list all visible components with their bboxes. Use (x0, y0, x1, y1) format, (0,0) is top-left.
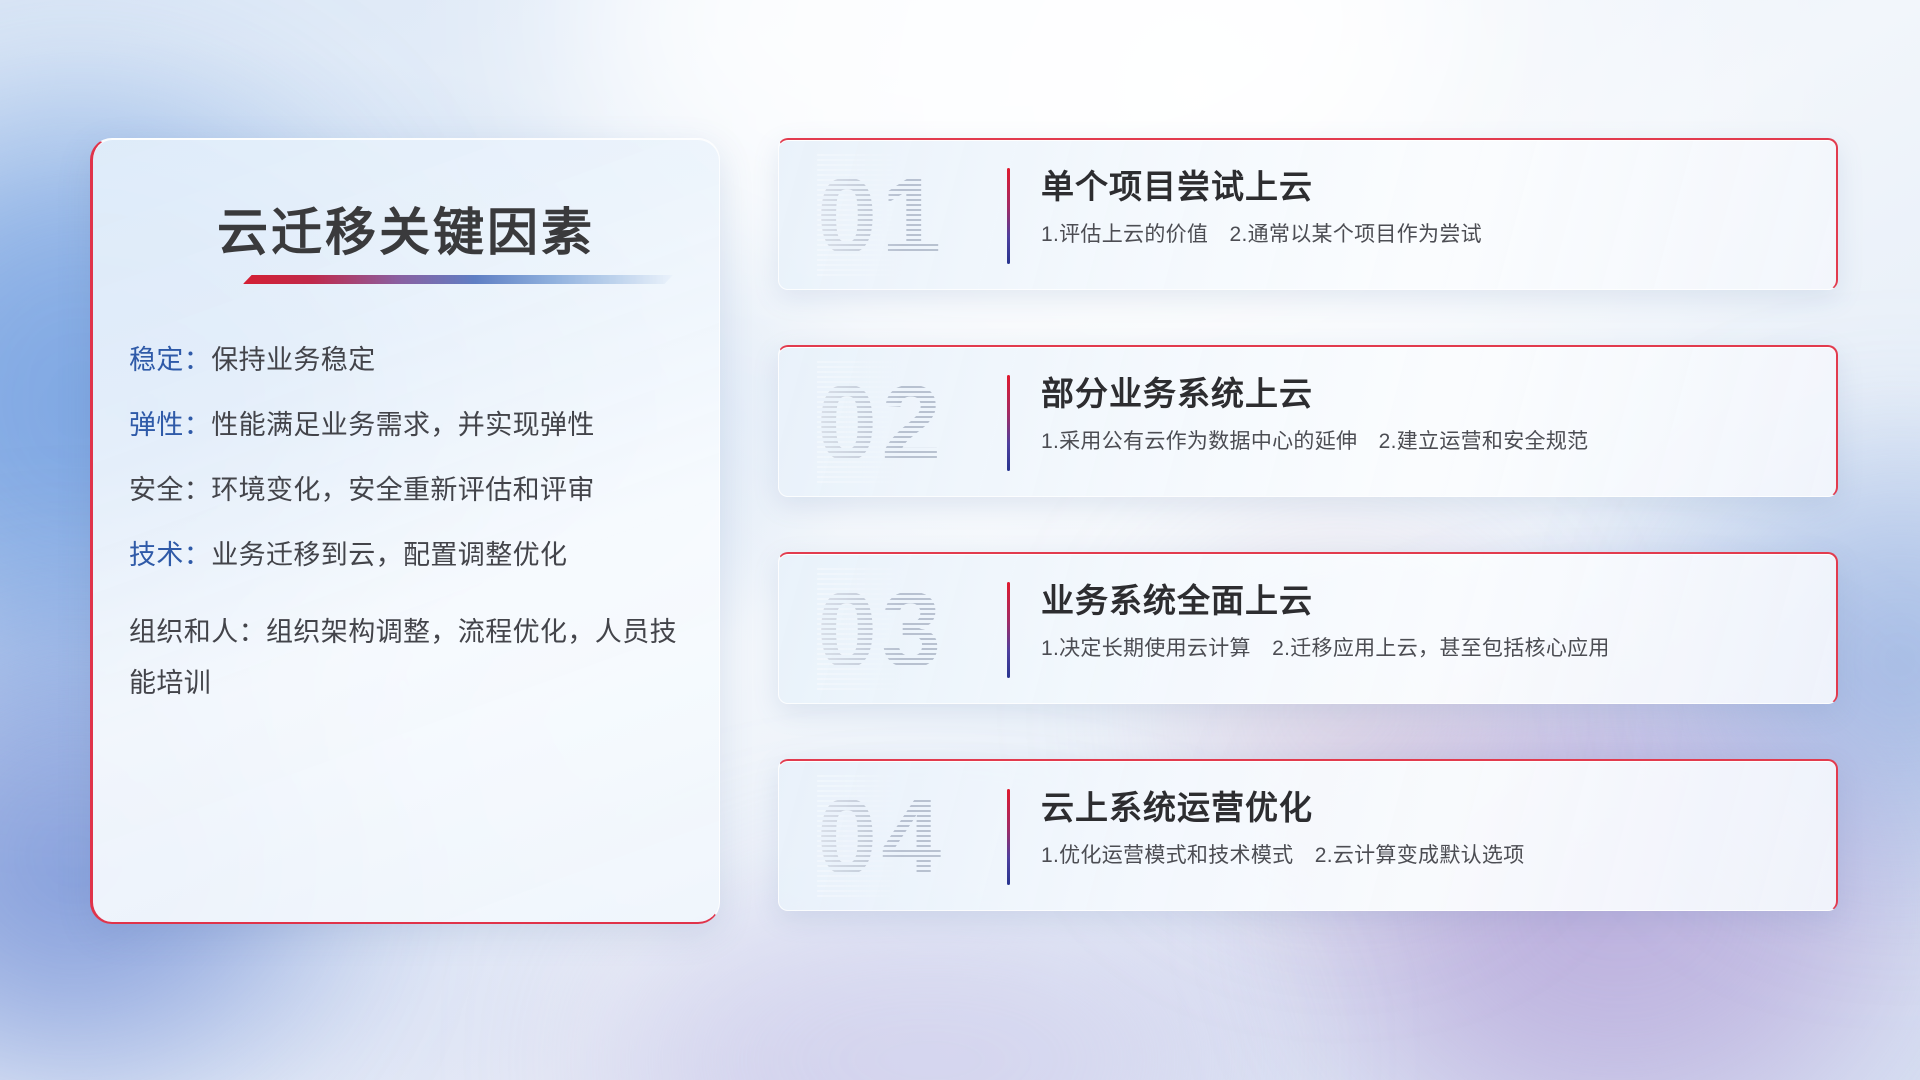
step-title: 云上系统运营优化 (1041, 787, 1810, 828)
step-body: 部分业务系统上云 1.采用公有云作为数据中心的延伸 2.建立运营和安全规范 (1041, 373, 1810, 456)
step-divider-bar (1007, 168, 1010, 264)
step-title: 业务系统全面上云 (1041, 580, 1810, 621)
step-subtitle: 1.决定长期使用云计算 2.迁移应用上云，甚至包括核心应用 (1041, 635, 1810, 662)
step-card[interactable]: 02 部分业务系统上云 1.采用公有云作为数据中心的延伸 2.建立运营和安全规范 (778, 345, 1838, 497)
slide-canvas: 云迁移关键因素 稳定：保持业务稳定 弹性：性能满足业务需求，并实现弹性 安全：环… (0, 0, 1920, 1080)
step-card[interactable]: 04 云上系统运营优化 1.优化运营模式和技术模式 2.云计算变成默认选项 (778, 759, 1838, 911)
background-blob-center-bottom (620, 900, 1240, 1080)
migration-steps-list: 01 单个项目尝试上云 1.评估上云的价值 2.通常以某个项目作为尝试 02 部… (778, 138, 1838, 911)
step-subtitle: 1.优化运营模式和技术模式 2.云计算变成默认选项 (1041, 842, 1810, 869)
factor-text: 环境变化，安全重新评估和评审 (211, 475, 595, 505)
factor-item: 技术：业务迁移到云，配置调整优化 (129, 542, 691, 569)
step-number-watermark: 01 (817, 154, 1007, 278)
factor-item: 安全：环境变化，安全重新评估和评审 (129, 477, 691, 504)
factor-text: 性能满足业务需求，并实现弹性 (211, 410, 595, 440)
step-number-watermark: 04 (817, 775, 1007, 899)
step-divider-bar (1007, 582, 1010, 678)
factor-item: 弹性：性能满足业务需求，并实现弹性 (129, 412, 691, 439)
step-number-watermark: 02 (817, 361, 1007, 485)
step-body: 单个项目尝试上云 1.评估上云的价值 2.通常以某个项目作为尝试 (1041, 166, 1810, 249)
step-divider-bar (1007, 789, 1010, 885)
factor-label: 技术： (129, 540, 211, 570)
title-underline-rule (243, 275, 673, 284)
factor-text: 业务迁移到云，配置调整优化 (211, 540, 567, 570)
step-body: 云上系统运营优化 1.优化运营模式和技术模式 2.云计算变成默认选项 (1041, 787, 1810, 870)
factor-label: 稳定： (129, 345, 211, 375)
step-subtitle: 1.评估上云的价值 2.通常以某个项目作为尝试 (1041, 221, 1810, 248)
step-number-watermark: 03 (817, 568, 1007, 692)
factor-label: 安全： (129, 475, 211, 505)
step-card[interactable]: 01 单个项目尝试上云 1.评估上云的价值 2.通常以某个项目作为尝试 (778, 138, 1838, 290)
key-factors-panel: 云迁移关键因素 稳定：保持业务稳定 弹性：性能满足业务需求，并实现弹性 安全：环… (90, 138, 720, 924)
step-divider-bar (1007, 375, 1010, 471)
factor-item: 组织和人：组织架构调整，流程优化，人员技能培训 (129, 607, 691, 709)
panel-title: 云迁移关键因素 (93, 191, 719, 265)
factor-label: 组织和人： (129, 617, 266, 647)
step-body: 业务系统全面上云 1.决定长期使用云计算 2.迁移应用上云，甚至包括核心应用 (1041, 580, 1810, 663)
step-card[interactable]: 03 业务系统全面上云 1.决定长期使用云计算 2.迁移应用上云，甚至包括核心应… (778, 552, 1838, 704)
step-title: 单个项目尝试上云 (1041, 166, 1810, 207)
step-title: 部分业务系统上云 (1041, 373, 1810, 414)
key-factors-list: 稳定：保持业务稳定 弹性：性能满足业务需求，并实现弹性 安全：环境变化，安全重新… (129, 347, 691, 747)
step-subtitle: 1.采用公有云作为数据中心的延伸 2.建立运营和安全规范 (1041, 428, 1810, 455)
factor-text: 保持业务稳定 (211, 345, 375, 375)
factor-item: 稳定：保持业务稳定 (129, 347, 691, 374)
factor-label: 弹性： (129, 410, 211, 440)
